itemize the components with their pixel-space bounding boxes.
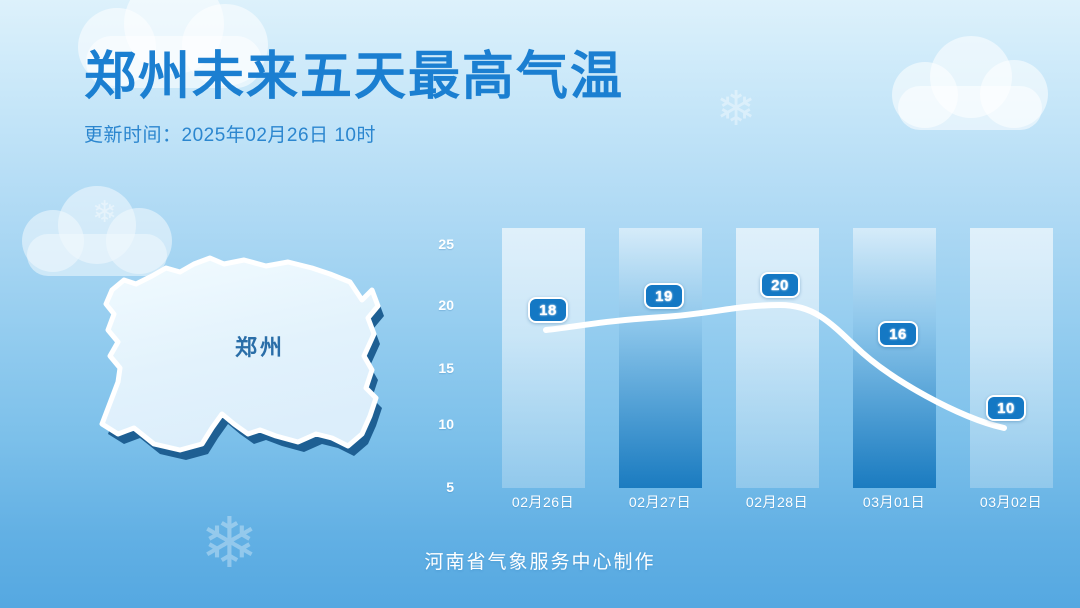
y-tick: 20 <box>418 297 454 313</box>
plot-area: 18 19 20 16 10 02月26日 02月27日 02月28日 03月0… <box>460 228 1038 488</box>
y-tick: 25 <box>418 236 454 252</box>
value-badge: 16 <box>878 321 918 347</box>
x-tick-label: 02月26日 <box>488 492 598 512</box>
snowflake-icon-top-right: ❄ <box>716 86 756 134</box>
map-city-label: 郑州 <box>80 330 440 362</box>
temperature-line <box>460 228 1038 488</box>
y-tick: 15 <box>418 360 454 376</box>
y-tick: 5 <box>418 479 454 495</box>
x-tick-label: 03月01日 <box>839 492 949 512</box>
value-badge: 20 <box>760 272 800 298</box>
zhengzhou-map: 郑州 <box>62 238 422 490</box>
value-badge: 19 <box>644 283 684 309</box>
zhengzhou-map-icon <box>62 238 422 490</box>
cloud-icon-top-right <box>892 36 1048 132</box>
value-badge: 18 <box>528 297 568 323</box>
x-tick-label: 02月28日 <box>722 492 832 512</box>
y-tick: 10 <box>418 416 454 432</box>
value-badge: 10 <box>986 395 1026 421</box>
footer-credit: 河南省气象服务中心制作 <box>0 547 1080 574</box>
temperature-chart: 25 20 15 10 5 18 19 20 16 10 02月26日 02月2… <box>418 228 1038 498</box>
x-tick-label: 02月27日 <box>605 492 715 512</box>
update-time-subtitle: 更新时间：2025年02月26日 10时 <box>84 120 624 147</box>
snowflake-icon-mid-left: ❄ <box>92 198 117 228</box>
y-axis: 25 20 15 10 5 <box>418 228 454 488</box>
page-title: 郑州未来五天最高气温 <box>84 48 624 108</box>
header: 郑州未来五天最高气温 更新时间：2025年02月26日 10时 <box>84 48 624 147</box>
x-tick-label: 03月02日 <box>956 492 1066 512</box>
